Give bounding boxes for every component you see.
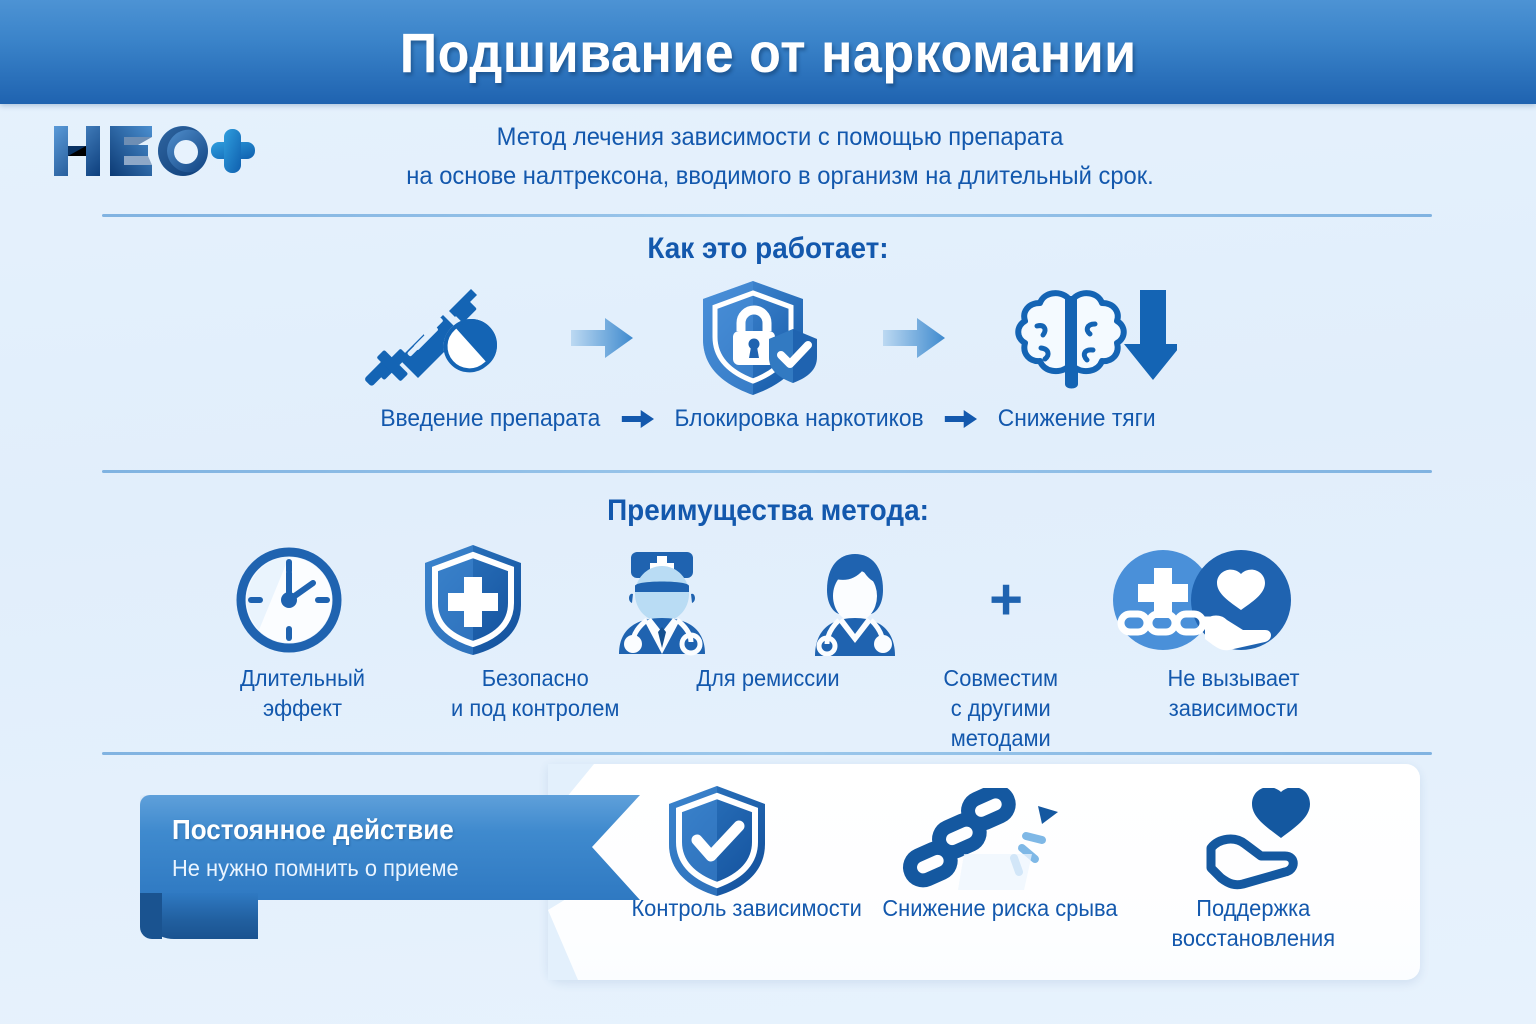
benefit-label-3-line1: Для ремиссии	[671, 663, 866, 693]
clock-icon	[235, 546, 343, 654]
intro-row: Метод лечения зависимости с помощью преп…	[0, 104, 1536, 216]
shield-cross-icon	[421, 543, 525, 657]
arrow-right-icon-2	[883, 316, 945, 360]
infographic-page: Подшивание от наркомании	[0, 0, 1536, 1024]
page-header: Подшивание от наркомании	[0, 0, 1536, 104]
arrow-right-small-icon-2	[945, 410, 977, 428]
how-step-label-1: Введение препарата	[380, 405, 600, 433]
bottom-label-3: Поддержка восстановления	[1135, 893, 1373, 963]
benefit-label-4-line2: с другими	[903, 693, 1098, 723]
bottom-label-2: Снижение риска срыва	[881, 893, 1119, 963]
bottom-label-1: Контроль зависимости	[628, 893, 866, 963]
doctor-nurse-icon	[603, 544, 721, 656]
ribbon-banner	[140, 795, 640, 900]
bottom-label-3-line1: Поддержка	[1135, 893, 1373, 923]
shield-lock-icon	[695, 279, 821, 397]
benefit-label-1: Длительный эффект	[205, 663, 400, 753]
brand-logo	[48, 116, 258, 186]
doctor-stethoscope-icon	[799, 544, 911, 656]
how-step-label-2: Блокировка наркотиков	[674, 405, 923, 433]
plus-sign-label: +	[989, 567, 1023, 632]
how-step-label-3: Снижение тяги	[998, 405, 1156, 433]
arrow-right-small-icon-1	[621, 410, 653, 428]
benefit-label-5-line2: зависимости	[1136, 693, 1331, 723]
benefit-label-2-line2: и под контролем	[438, 693, 633, 723]
divider-top	[102, 214, 1432, 217]
benefit-label-2: Безопасно и под контролем	[438, 663, 633, 753]
benefit-label-4: Совместим с другими методами	[903, 663, 1098, 753]
how-it-works-title: Как это работает:	[54, 232, 1482, 266]
how-it-works-icons	[0, 278, 1536, 398]
plus-sign: +	[989, 571, 1023, 629]
arrow-right-icon-1	[571, 316, 633, 360]
bottom-label-3-line2: восстановления	[1135, 923, 1373, 953]
chain-heart-hand-icon	[1101, 548, 1301, 652]
bottom-label-2-line1: Снижение риска срыва	[881, 893, 1119, 923]
brain-down-arrow-icon	[1007, 282, 1177, 394]
shield-check-icon	[665, 784, 769, 896]
benefit-label-4-line3: методами	[903, 723, 1098, 753]
intro-line-1: Метод лечения зависимости с помощью преп…	[324, 118, 1236, 157]
benefit-label-5: Не вызывает зависимости	[1136, 663, 1331, 753]
how-it-works-labels: Введение препарата Блокировка наркотиков…	[38, 405, 1497, 433]
benefit-label-5-line1: Не вызывает	[1136, 663, 1331, 693]
benefit-label-3: Для ремиссии	[671, 663, 866, 753]
benefits-labels: Длительный эффект Безопасно и под контро…	[38, 663, 1497, 753]
benefit-label-4-line1: Совместим	[903, 663, 1098, 693]
benefit-label-1-line1: Длительный эффект	[205, 663, 400, 723]
ribbon-subtitle: Не нужно помнить о приеме	[172, 855, 459, 882]
heart-in-hand-icon	[1195, 788, 1335, 892]
divider-middle	[102, 470, 1432, 473]
ribbon-tail-edge	[140, 893, 162, 939]
ribbon-title: Постоянное действие	[172, 814, 454, 846]
bottom-label-1-line1: Контроль зависимости	[628, 893, 866, 923]
bottom-icons	[600, 786, 1400, 894]
benefits-icons: +	[0, 540, 1536, 660]
broken-chain-icon	[898, 788, 1066, 892]
divider-bottom	[102, 752, 1432, 755]
syringe-pill-icon	[359, 283, 509, 393]
page-title: Подшивание от наркомании	[400, 20, 1137, 85]
benefits-title: Преимущества метода:	[54, 494, 1482, 528]
bottom-labels: Контроль зависимости Снижение риска срыв…	[620, 893, 1380, 963]
benefit-label-2-line1: Безопасно	[438, 663, 633, 693]
intro-text: Метод лечения зависимости с помощью преп…	[324, 118, 1236, 196]
intro-line-2: на основе налтрексона, вводимого в орган…	[324, 157, 1236, 196]
